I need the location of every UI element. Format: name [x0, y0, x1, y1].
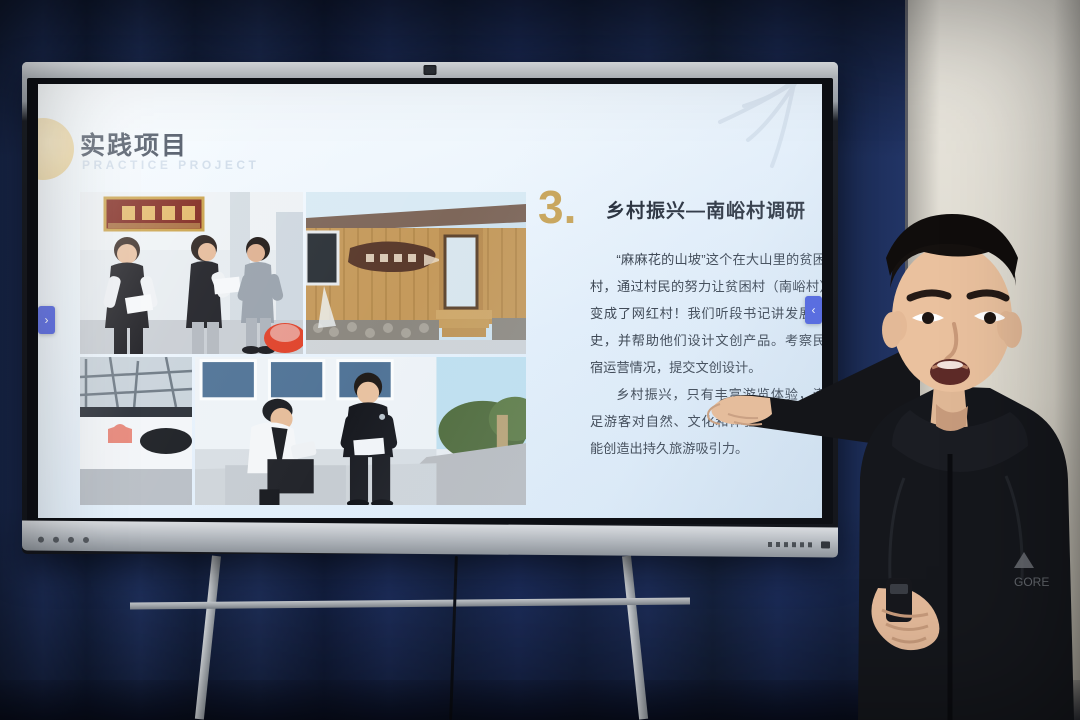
hdmi-port	[776, 542, 780, 547]
section-heading: 乡村振兴—南峪村调研	[606, 196, 806, 223]
section-number: 3.	[538, 184, 576, 230]
photo-collage	[80, 192, 520, 502]
volume-button[interactable]	[83, 537, 89, 543]
power-button[interactable]	[38, 537, 44, 543]
bottom-bezel	[22, 520, 838, 557]
photo-survey-indoor	[80, 192, 303, 354]
photo-wooden-homestay	[306, 192, 526, 354]
bezel-ports	[768, 542, 812, 547]
usb-port	[768, 542, 772, 547]
top-bezel	[22, 62, 838, 78]
photo-students-outdoor	[195, 357, 526, 505]
audio-port	[792, 542, 796, 547]
decorative-circle	[38, 118, 74, 180]
bezel-control-buttons[interactable]	[38, 537, 89, 543]
presenter: GORE	[838, 148, 1080, 720]
camera-icon	[424, 65, 437, 75]
page-subtitle: PRACTICE PROJECT	[82, 158, 259, 172]
source-button[interactable]	[68, 537, 74, 543]
slide-prev-button[interactable]: ›	[38, 306, 55, 334]
vga-port	[784, 542, 788, 547]
photo-signboard	[80, 357, 192, 505]
page-title: 实践项目	[80, 126, 188, 162]
grass-decoration-icon	[686, 84, 806, 188]
interactive-whiteboard[interactable]: 实践项目 PRACTICE PROJECT	[22, 62, 838, 554]
svg-text:GORE: GORE	[1014, 575, 1049, 589]
menu-button[interactable]	[53, 537, 59, 543]
brand-logo	[821, 541, 830, 548]
lan-port	[800, 542, 804, 547]
slide-next-button[interactable]: ‹	[805, 296, 822, 324]
aux-port	[808, 542, 812, 547]
presentation-scene: 实践项目 PRACTICE PROJECT	[0, 0, 1080, 720]
